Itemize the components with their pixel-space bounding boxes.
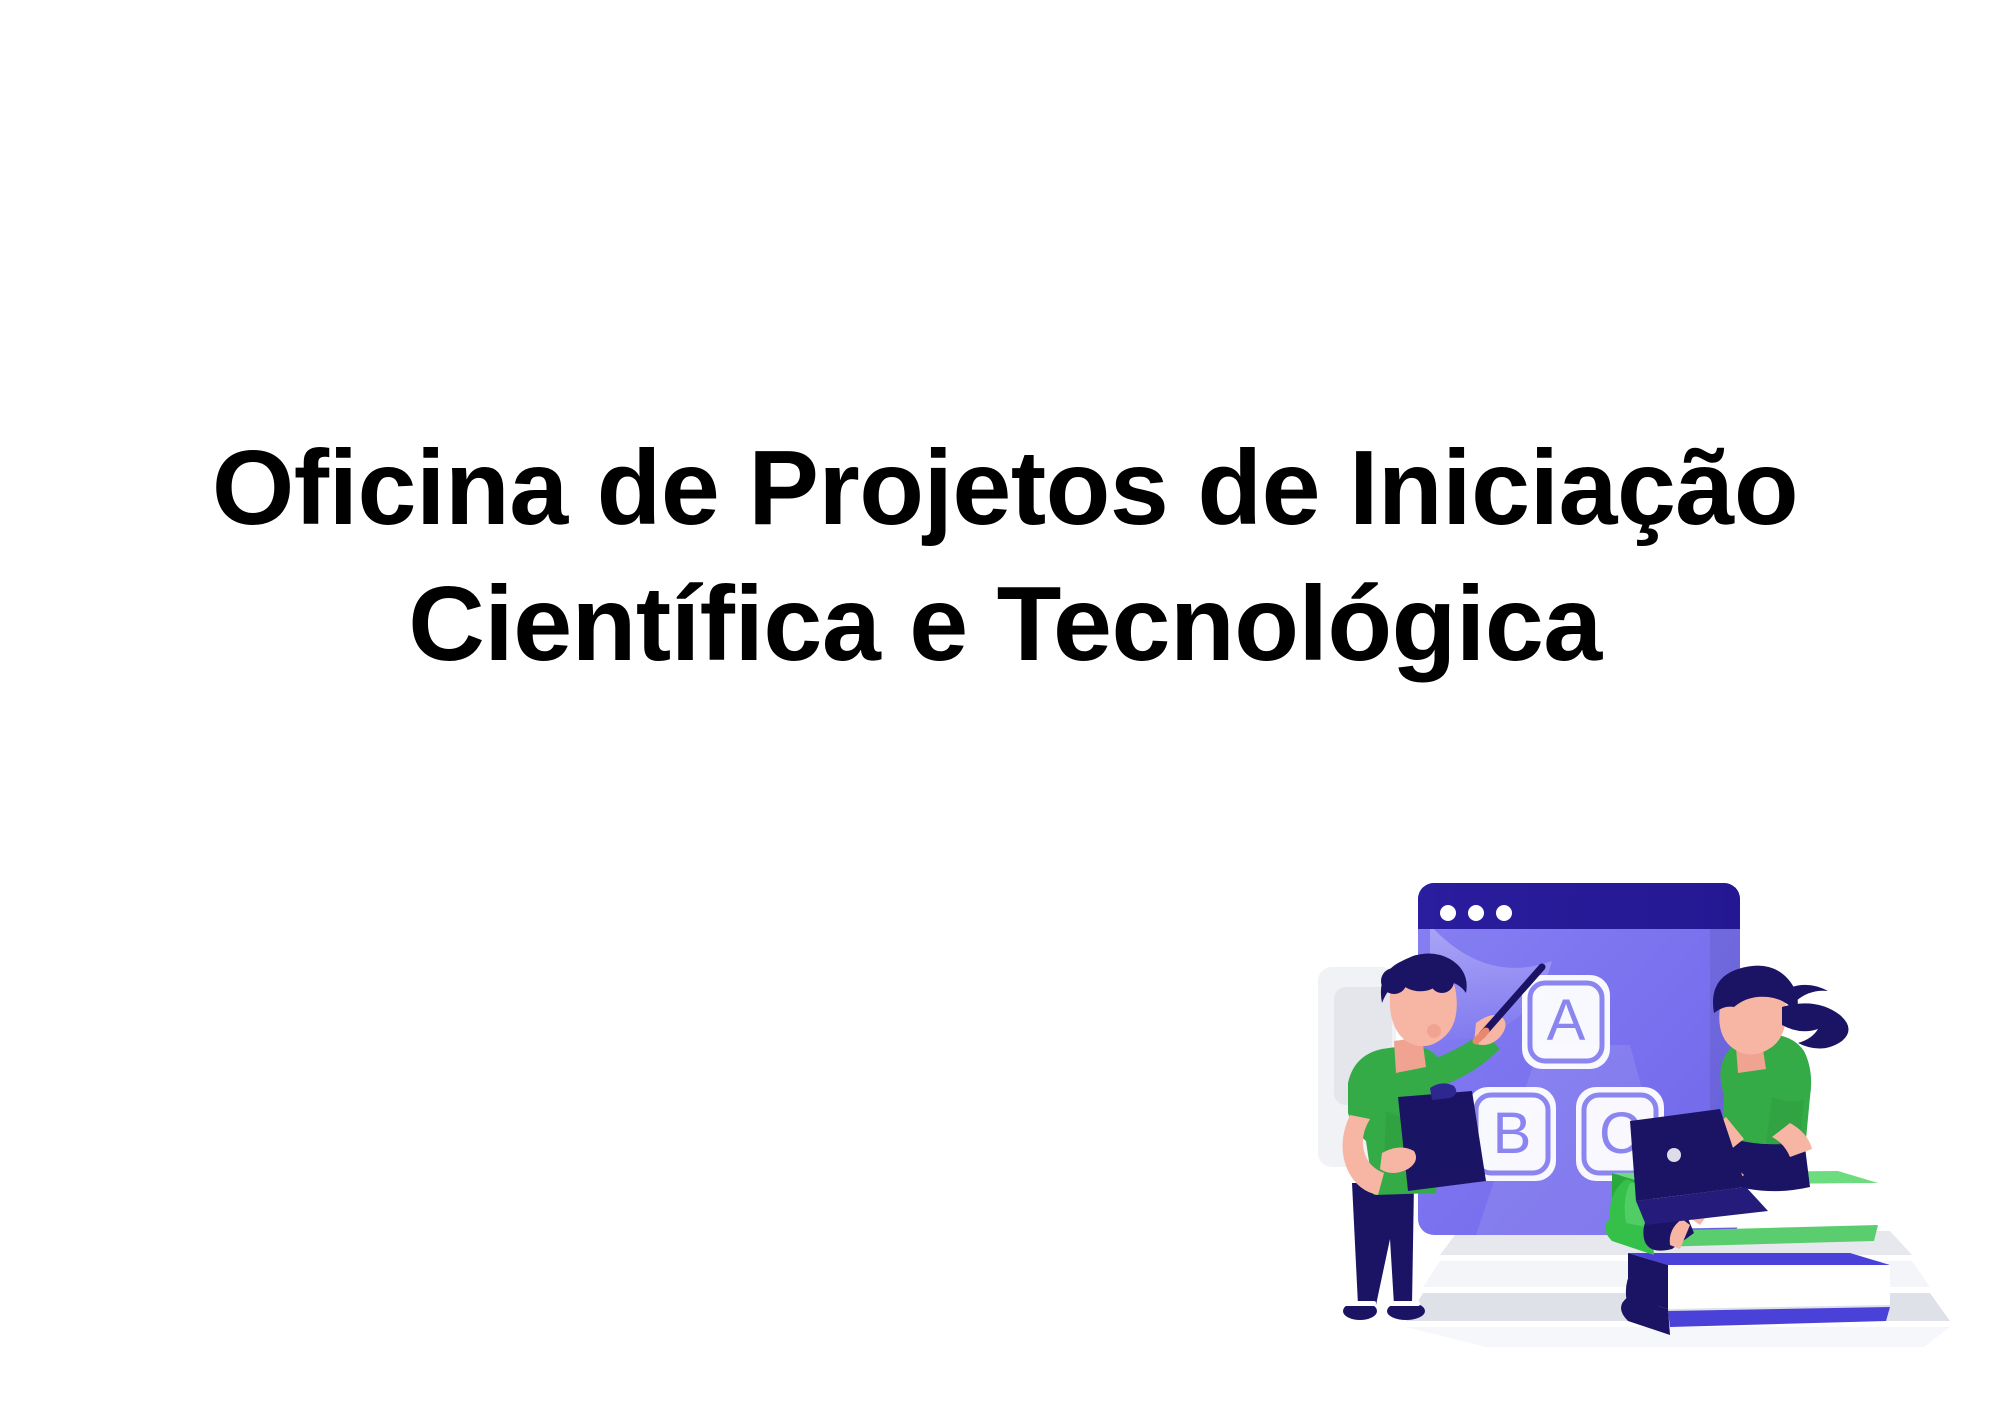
block-b-letter: B [1493, 1101, 1532, 1166]
title-line-1: Oficina de Projetos de Iniciação [90, 420, 1920, 556]
slide-canvas: Oficina de Projetos de Iniciação Científ… [0, 0, 2000, 1414]
page-title: Oficina de Projetos de Iniciação Científ… [90, 420, 1920, 692]
teacher-trousers [1352, 1183, 1414, 1305]
window-dots-icon [1440, 905, 1512, 921]
title-line-2: Científica e Tecnológica [90, 556, 1920, 692]
block-a-letter: A [1547, 988, 1586, 1053]
clipboard-icon [1398, 1083, 1486, 1191]
education-illustration: A B C [1290, 835, 1990, 1405]
block-a-icon: A [1522, 975, 1610, 1069]
book-blue [1621, 1253, 1890, 1335]
